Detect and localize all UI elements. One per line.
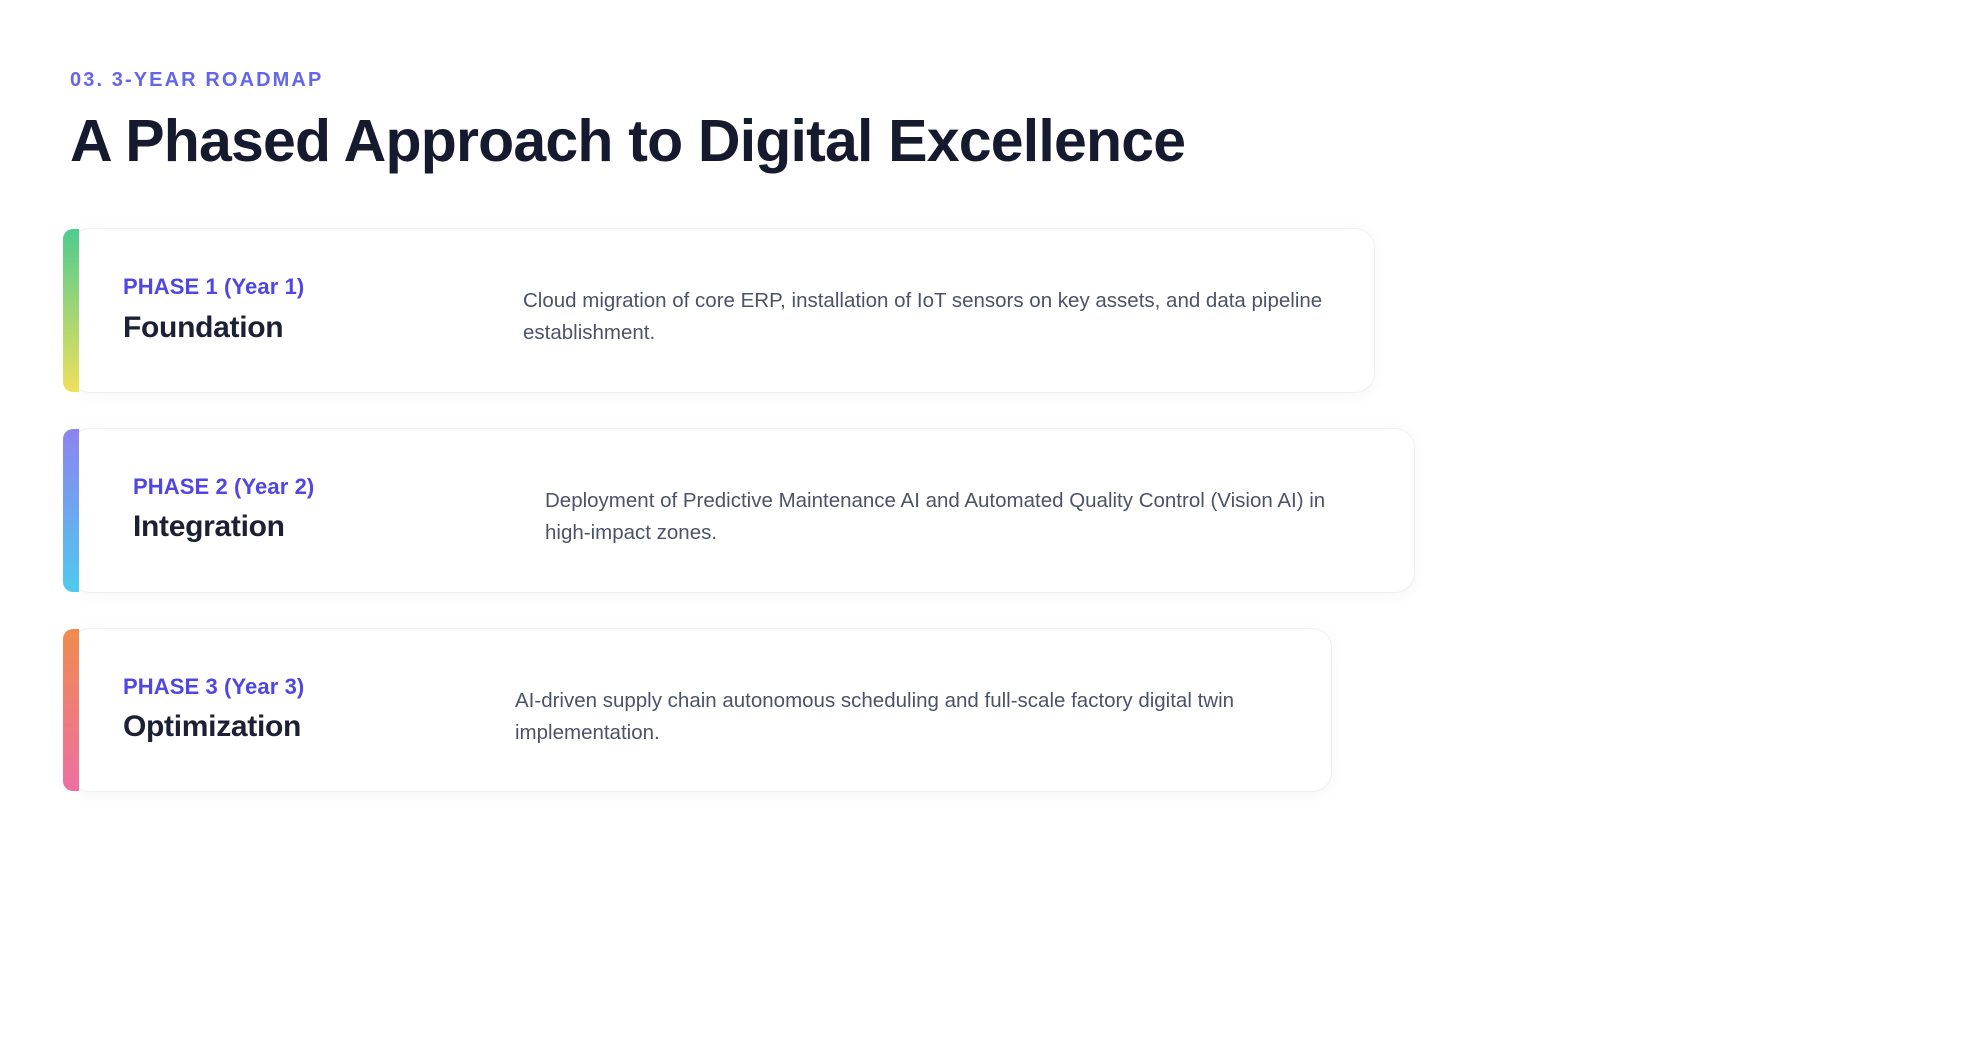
card-heading-block-phase-3: PHASE 3 (Year 3) Optimization [123, 671, 515, 746]
section-eyebrow: 03. 3-YEAR ROADMAP [70, 68, 1185, 92]
phase-description-2: Deployment of Predictive Maintenance AI … [545, 471, 1374, 550]
roadmap-card-phase-2[interactable]: PHASE 2 (Year 2) Integration Deployment … [70, 428, 1415, 593]
page-title: A Phased Approach to Digital Excellence [70, 110, 1185, 174]
phase-description-3: AI-driven supply chain autonomous schedu… [515, 671, 1291, 750]
phase-label-1: PHASE 1 (Year 1) [123, 273, 523, 301]
phase-name-1: Foundation [123, 310, 523, 346]
card-content-phase-1: PHASE 1 (Year 1) Foundation Cloud migrat… [71, 229, 1374, 392]
card-heading-block-phase-1: PHASE 1 (Year 1) Foundation [123, 271, 523, 346]
roadmap-card-list: PHASE 1 (Year 1) Foundation Cloud migrat… [70, 228, 1415, 792]
roadmap-card-phase-3[interactable]: PHASE 3 (Year 3) Optimization AI-driven … [70, 628, 1332, 793]
card-heading-block-phase-2: PHASE 2 (Year 2) Integration [133, 471, 545, 546]
phase-label-2: PHASE 2 (Year 2) [133, 473, 545, 501]
phase-name-2: Integration [133, 509, 545, 545]
phase-description-1: Cloud migration of core ERP, installatio… [523, 271, 1334, 350]
slide-root: 03. 3-YEAR ROADMAP A Phased Approach to … [0, 0, 1964, 1064]
slide-header: 03. 3-YEAR ROADMAP A Phased Approach to … [70, 68, 1185, 174]
phase-name-3: Optimization [123, 709, 515, 745]
card-content-phase-2: PHASE 2 (Year 2) Integration Deployment … [71, 429, 1414, 592]
phase-label-3: PHASE 3 (Year 3) [123, 673, 515, 701]
card-content-phase-3: PHASE 3 (Year 3) Optimization AI-driven … [71, 629, 1331, 792]
roadmap-card-phase-1[interactable]: PHASE 1 (Year 1) Foundation Cloud migrat… [70, 228, 1375, 393]
